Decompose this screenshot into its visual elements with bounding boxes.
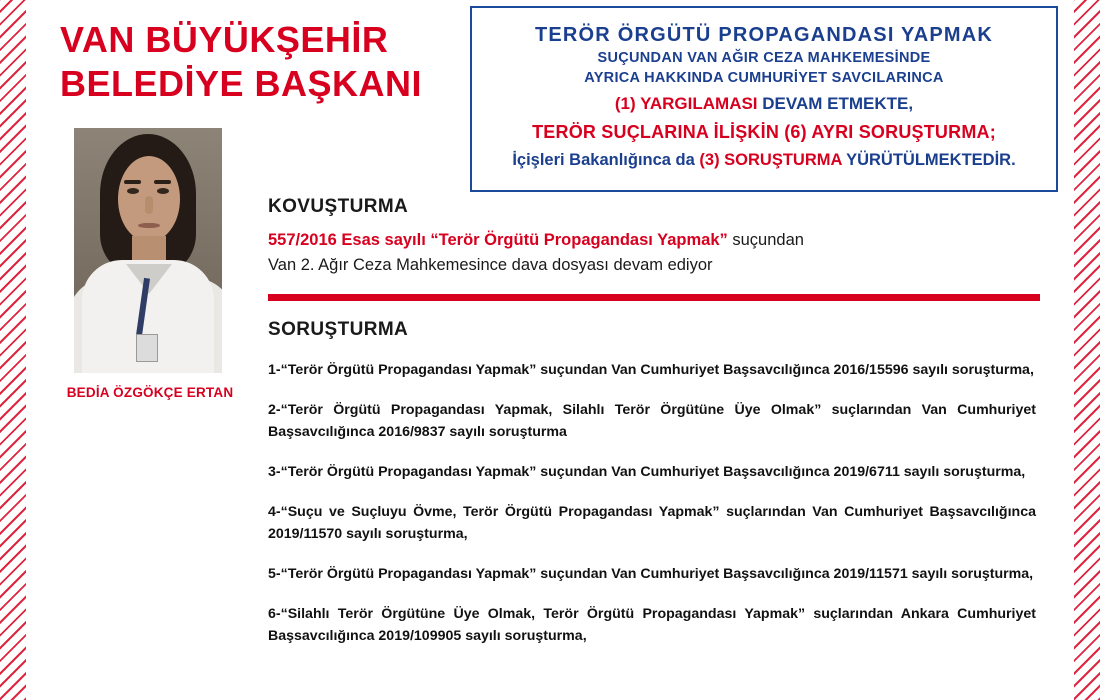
notice-line-1: TERÖR ÖRGÜTÜ PROPAGANDASI YAPMAK [472, 22, 1056, 48]
decorative-hatch-right [1074, 0, 1100, 700]
photo-brow-left [124, 180, 141, 184]
prosecution-line-1: 557/2016 Esas sayılı “Terör Örgütü Propa… [268, 228, 1040, 252]
list-item: 4-“Suçu ve Suçluyu Övme, Terör Örgütü Pr… [268, 501, 1036, 545]
prosecution-line-1-rest: suçundan [728, 231, 804, 249]
investigation-heading: SORUŞTURMA [268, 319, 1040, 341]
list-item: 3-“Terör Örgütü Propagandası Yapmak” suç… [268, 461, 1036, 483]
page-title: VAN BÜYÜKŞEHİR BELEDİYE BAŞKANI [60, 18, 480, 106]
section-divider [268, 294, 1040, 301]
title-line-2: BELEDİYE BAŞKANI [60, 62, 480, 106]
notice-line-3: AYRICA HAKKINDA CUMHURİYET SAVCILARINCA [472, 68, 1056, 88]
prosecution-heading: KOVUŞTURMA [268, 196, 1040, 218]
list-item: 5-“Terör Örgütü Propagandası Yapmak” suç… [268, 563, 1036, 585]
poster-page: VAN BÜYÜKŞEHİR BELEDİYE BAŞKANI TERÖR ÖR… [0, 0, 1100, 700]
photo-mouth [138, 223, 160, 228]
list-item: 2-“Terör Örgütü Propagandası Yapmak, Sil… [268, 399, 1036, 443]
title-line-1: VAN BÜYÜKŞEHİR [60, 18, 480, 62]
list-item: 6-“Silahlı Terör Örgütüne Üye Olmak, Ter… [268, 603, 1036, 647]
notice-line-2: SUÇUNDAN VAN AĞIR CEZA MAHKEMESİNDE [472, 48, 1056, 68]
photo-eye-right [157, 188, 169, 194]
photo-caption: BEDİA ÖZGÖKÇE ERTAN [60, 385, 240, 400]
notice-line-4: (1) YARGILAMASI DEVAM ETMEKTE, [472, 90, 1056, 118]
notice-line-4-rest: DEVAM ETMEKTE, [762, 94, 913, 113]
prosecution-line-2: Van 2. Ağır Ceza Mahkemesince dava dosya… [268, 252, 1040, 278]
prosecution-case-number: 557/2016 Esas sayılı “Terör Örgütü Propa… [268, 231, 728, 249]
list-item: 1-“Terör Örgütü Propagandası Yapmak” suç… [268, 359, 1036, 381]
notice-box: TERÖR ÖRGÜTÜ PROPAGANDASI YAPMAK SUÇUNDA… [470, 6, 1058, 192]
notice-line-6: İçişleri Bakanlığınca da (3) SORUŞTURMA … [472, 146, 1056, 174]
notice-line-5: TERÖR SUÇLARINA İLİŞKİN (6) AYRI SORUŞTU… [472, 118, 1056, 146]
photo-eye-left [127, 188, 139, 194]
notice-count-yargilama: (1) [615, 94, 636, 113]
photo-brow-right [154, 180, 171, 184]
notice-yargilamasi-label: YARGILAMASI [640, 94, 757, 113]
notice-line-6-c: YÜRÜTÜLMEKTEDİR. [846, 151, 1016, 169]
content-column: KOVUŞTURMA 557/2016 Esas sayılı “Terör Ö… [268, 196, 1040, 665]
notice-line-6-a: İçişleri Bakanlığınca da [512, 151, 695, 169]
decorative-hatch-left [0, 0, 26, 700]
photo-nose [145, 196, 153, 214]
photo-badge [136, 334, 158, 362]
notice-line-6-b: (3) SORUŞTURMA [699, 151, 841, 169]
avatar [74, 128, 222, 373]
